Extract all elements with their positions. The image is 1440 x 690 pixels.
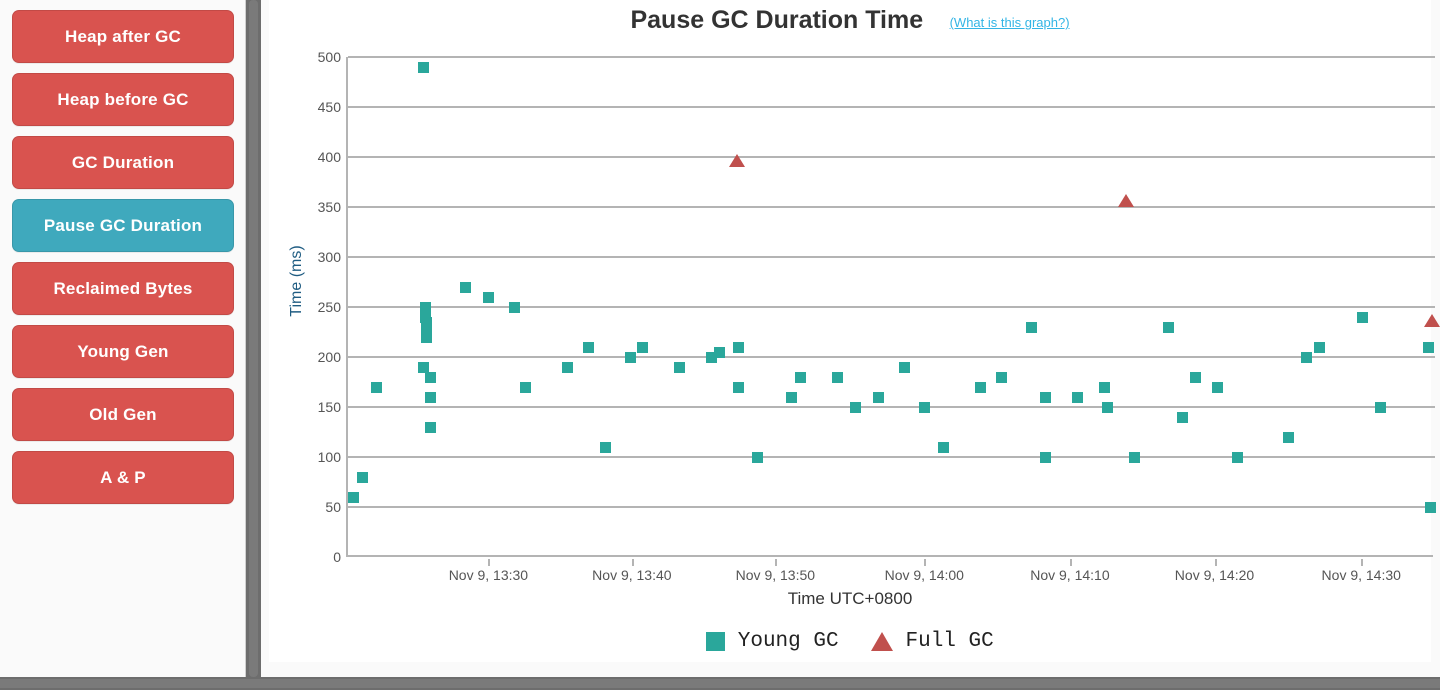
data-point-young-gc[interactable]: [625, 352, 636, 363]
plot-area: [346, 57, 1433, 557]
sidebar-item-label: Reclaimed Bytes: [53, 279, 192, 299]
horizontal-scrollbar[interactable]: [0, 677, 1440, 690]
sidebar-item-heap-after-gc[interactable]: Heap after GC: [12, 10, 234, 63]
sidebar-item-label: Pause GC Duration: [44, 216, 202, 236]
x-axis-tick: [1361, 559, 1363, 566]
sidebar-item-label: A & P: [100, 468, 146, 488]
x-axis-tick-label: Nov 9, 14:10: [990, 567, 1150, 583]
data-point-young-gc[interactable]: [1232, 452, 1243, 463]
data-point-young-gc[interactable]: [752, 452, 763, 463]
x-axis: Nov 9, 13:30Nov 9, 13:40Nov 9, 13:50Nov …: [346, 559, 1433, 589]
data-point-young-gc[interactable]: [371, 382, 382, 393]
data-point-young-gc[interactable]: [418, 62, 429, 73]
x-axis-title: Time UTC+0800: [269, 589, 1431, 609]
data-point-young-gc[interactable]: [425, 392, 436, 403]
y-axis-tick-label: 300: [295, 249, 341, 265]
y-axis-tick-label: 200: [295, 349, 341, 365]
legend-label: Young GC: [738, 630, 839, 653]
data-point-young-gc[interactable]: [795, 372, 806, 383]
data-point-young-gc[interactable]: [1026, 322, 1037, 333]
sidebar-item-label: Heap after GC: [65, 27, 181, 47]
gridline: [348, 156, 1435, 158]
data-point-young-gc[interactable]: [714, 347, 725, 358]
gridline: [348, 406, 1435, 408]
gridline: [348, 206, 1435, 208]
data-point-young-gc[interactable]: [1072, 392, 1083, 403]
x-axis-tick-label: Nov 9, 14:30: [1281, 567, 1440, 583]
legend-item-full-gc[interactable]: Full GC: [871, 630, 994, 653]
triangle-marker-icon: [871, 632, 893, 651]
sidebar-item-gc-duration[interactable]: GC Duration: [12, 136, 234, 189]
data-point-young-gc[interactable]: [975, 382, 986, 393]
data-point-young-gc[interactable]: [637, 342, 648, 353]
data-point-young-gc[interactable]: [425, 372, 436, 383]
data-point-young-gc[interactable]: [1283, 432, 1294, 443]
y-axis-tick-label: 250: [295, 299, 341, 315]
data-point-young-gc[interactable]: [996, 372, 1007, 383]
data-point-young-gc[interactable]: [421, 332, 432, 343]
y-axis-tick-label: 400: [295, 149, 341, 165]
sidebar-item-label: Young Gen: [77, 342, 168, 362]
data-point-young-gc[interactable]: [1129, 452, 1140, 463]
data-point-young-gc[interactable]: [919, 402, 930, 413]
data-point-young-gc[interactable]: [1099, 382, 1110, 393]
data-point-young-gc[interactable]: [938, 442, 949, 453]
plot-wrapper: Time (ms) 050100150200250300350400450500…: [269, 0, 1431, 662]
chart-card: Pause GC Duration Time (What is this gra…: [269, 0, 1431, 662]
y-axis-tick-label: 0: [295, 549, 341, 565]
vertical-scrollbar[interactable]: [247, 0, 260, 677]
x-axis-tick: [632, 559, 634, 566]
data-point-young-gc[interactable]: [425, 422, 436, 433]
data-point-full-gc[interactable]: [1118, 194, 1134, 207]
sidebar-item-heap-before-gc[interactable]: Heap before GC: [12, 73, 234, 126]
sidebar-item-young-gen[interactable]: Young Gen: [12, 325, 234, 378]
x-axis-tick-label: Nov 9, 13:50: [695, 567, 855, 583]
data-point-young-gc[interactable]: [850, 402, 861, 413]
data-point-young-gc[interactable]: [1177, 412, 1188, 423]
sidebar-item-label: Heap before GC: [57, 90, 188, 110]
sidebar: Heap after GC Heap before GC GC Duration…: [0, 0, 246, 677]
data-point-young-gc[interactable]: [786, 392, 797, 403]
gridline: [348, 106, 1435, 108]
x-axis-tick: [1070, 559, 1072, 566]
data-point-young-gc[interactable]: [733, 382, 744, 393]
data-point-young-gc[interactable]: [1375, 402, 1386, 413]
data-point-young-gc[interactable]: [357, 472, 368, 483]
data-point-young-gc[interactable]: [1357, 312, 1368, 323]
gridline: [348, 506, 1435, 508]
gridline: [348, 356, 1435, 358]
x-axis-tick-label: Nov 9, 13:30: [408, 567, 568, 583]
app-root: Heap after GC Heap before GC GC Duration…: [0, 0, 1440, 690]
data-point-young-gc[interactable]: [1163, 322, 1174, 333]
gridline: [348, 56, 1435, 58]
data-point-young-gc[interactable]: [1102, 402, 1113, 413]
x-axis-tick: [488, 559, 490, 566]
x-axis-tick: [924, 559, 926, 566]
sidebar-item-label: Old Gen: [89, 405, 157, 425]
x-axis-tick-label: Nov 9, 14:20: [1135, 567, 1295, 583]
y-axis-tick-label: 100: [295, 449, 341, 465]
vertical-scrollbar-thumb[interactable]: [249, 0, 258, 677]
data-point-young-gc[interactable]: [460, 282, 471, 293]
chart-legend: Young GC Full GC: [269, 630, 1431, 653]
data-point-full-gc[interactable]: [729, 154, 745, 167]
sidebar-item-a-and-p[interactable]: A & P: [12, 451, 234, 504]
data-point-young-gc[interactable]: [583, 342, 594, 353]
square-marker-icon: [706, 632, 725, 651]
y-axis-tick-label: 450: [295, 99, 341, 115]
horizontal-scrollbar-thumb[interactable]: [0, 679, 1440, 688]
data-point-full-gc[interactable]: [1424, 314, 1440, 327]
data-point-young-gc[interactable]: [733, 342, 744, 353]
data-point-young-gc[interactable]: [899, 362, 910, 373]
data-point-young-gc[interactable]: [1190, 372, 1201, 383]
legend-item-young-gc[interactable]: Young GC: [706, 630, 838, 653]
legend-label: Full GC: [905, 630, 993, 653]
data-point-young-gc[interactable]: [674, 362, 685, 373]
data-point-young-gc[interactable]: [1425, 502, 1436, 513]
y-axis-tick-label: 350: [295, 199, 341, 215]
chart-panel: Pause GC Duration Time (What is this gra…: [261, 0, 1440, 677]
gridline: [348, 256, 1435, 258]
sidebar-item-pause-gc-duration[interactable]: Pause GC Duration: [12, 199, 234, 252]
y-axis-tick-label: 50: [295, 499, 341, 515]
data-point-young-gc[interactable]: [509, 302, 520, 313]
sidebar-item-label: GC Duration: [72, 153, 174, 173]
data-point-young-gc[interactable]: [1040, 392, 1051, 403]
y-axis-tick-labels: 050100150200250300350400450500: [291, 57, 341, 557]
y-axis-tick-label: 500: [295, 49, 341, 65]
x-axis-tick: [1215, 559, 1217, 566]
data-point-young-gc[interactable]: [562, 362, 573, 373]
data-point-young-gc[interactable]: [483, 292, 494, 303]
x-axis-tick: [775, 559, 777, 566]
x-axis-tick-label: Nov 9, 13:40: [552, 567, 712, 583]
data-point-young-gc[interactable]: [520, 382, 531, 393]
data-point-young-gc[interactable]: [1040, 452, 1051, 463]
data-point-young-gc[interactable]: [1423, 342, 1434, 353]
gridline: [348, 456, 1435, 458]
data-point-young-gc[interactable]: [348, 492, 359, 503]
data-point-young-gc[interactable]: [600, 442, 611, 453]
y-axis-tick-label: 150: [295, 399, 341, 415]
data-point-young-gc[interactable]: [1314, 342, 1325, 353]
data-point-young-gc[interactable]: [832, 372, 843, 383]
x-axis-tick-label: Nov 9, 14:00: [844, 567, 1004, 583]
sidebar-item-old-gen[interactable]: Old Gen: [12, 388, 234, 441]
data-point-young-gc[interactable]: [873, 392, 884, 403]
data-point-young-gc[interactable]: [1301, 352, 1312, 363]
sidebar-item-reclaimed-bytes[interactable]: Reclaimed Bytes: [12, 262, 234, 315]
data-point-young-gc[interactable]: [1212, 382, 1223, 393]
